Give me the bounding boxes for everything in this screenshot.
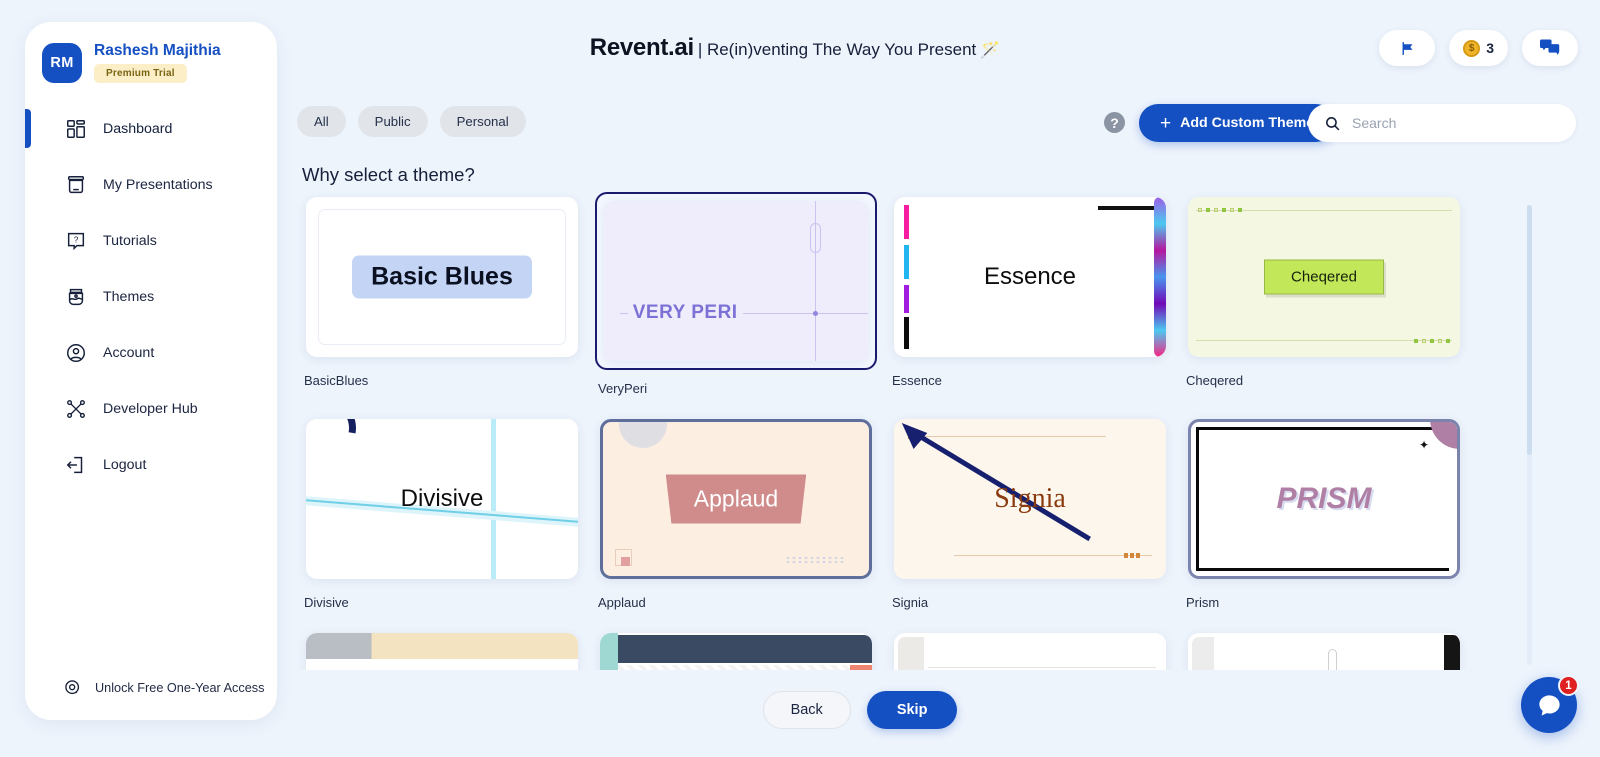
credits-count: 3 bbox=[1486, 40, 1494, 56]
sidebar-item-dashboard[interactable]: Dashboard bbox=[25, 107, 277, 150]
theme-preview-title: PRISM bbox=[1276, 482, 1371, 515]
user-circle-icon bbox=[65, 342, 87, 364]
theme-preview: Cheqered bbox=[1188, 197, 1460, 357]
theme-card-signia[interactable]: Signia Signia bbox=[883, 414, 1177, 612]
plan-badge: Premium Trial bbox=[94, 64, 187, 83]
logout-icon bbox=[65, 454, 87, 476]
add-custom-theme-label: Add Custom Theme bbox=[1180, 115, 1314, 131]
theme-card-partial-4[interactable] bbox=[1177, 628, 1471, 670]
theme-card-label: VeryPeri bbox=[595, 381, 877, 398]
theme-card-partial-1[interactable] bbox=[295, 628, 589, 670]
help-icon[interactable]: ? bbox=[1104, 112, 1125, 133]
wizard-footer: Back Skip bbox=[0, 691, 1600, 729]
section-heading: Why select a theme? bbox=[302, 164, 475, 186]
theme-card-label: Cheqered bbox=[1183, 373, 1465, 390]
theme-card-divisive[interactable]: Divisive Divisive bbox=[295, 414, 589, 612]
sidebar-item-label: Themes bbox=[103, 289, 154, 305]
chat-icon bbox=[1540, 39, 1560, 57]
coin-icon: $ bbox=[1463, 40, 1480, 57]
profile-block[interactable]: RM Rashesh Majithia Premium Trial bbox=[25, 22, 277, 83]
chat-badge: 1 bbox=[1558, 675, 1579, 696]
sidebar-item-developer-hub[interactable]: Developer Hub bbox=[25, 387, 277, 430]
theme-preview: Divisive bbox=[306, 419, 578, 579]
profile-name: Rashesh Majithia bbox=[94, 42, 221, 59]
theme-card-label: Signia bbox=[889, 595, 1171, 612]
credits-button[interactable]: $ 3 bbox=[1449, 30, 1508, 66]
theme-grid-scrollbar[interactable] bbox=[1527, 205, 1532, 665]
dashboard-icon bbox=[65, 118, 87, 140]
magic-wand-icon: 🪄 bbox=[980, 42, 1000, 59]
theme-preview bbox=[600, 633, 872, 670]
theme-filter-chips: All Public Personal bbox=[297, 106, 526, 137]
header-actions: $ 3 bbox=[1379, 30, 1578, 66]
theme-card-prism[interactable]: ✦ PRISM Prism bbox=[1177, 414, 1471, 612]
sidebar: RM Rashesh Majithia Premium Trial Dashbo… bbox=[25, 22, 277, 720]
theme-card-partial-2[interactable] bbox=[589, 628, 883, 670]
filter-chip-public[interactable]: Public bbox=[358, 106, 428, 137]
feedback-button[interactable] bbox=[1522, 30, 1578, 66]
plus-icon: + bbox=[1160, 114, 1171, 133]
search-icon bbox=[1324, 115, 1341, 132]
theme-grid-scroll-area[interactable]: Basic Blues BasicBlues VERY PERI VeryPer… bbox=[295, 192, 1525, 670]
sidebar-item-account[interactable]: Account bbox=[25, 331, 277, 374]
theme-card-veryperi[interactable]: VERY PERI VeryPeri bbox=[589, 192, 883, 398]
theme-card-cheqered[interactable]: Cheqered Cheqered bbox=[1177, 192, 1471, 398]
theme-preview bbox=[1188, 633, 1460, 670]
sidebar-item-label: Developer Hub bbox=[103, 401, 198, 417]
theme-preview-title: Signia bbox=[994, 483, 1066, 514]
back-button[interactable]: Back bbox=[763, 691, 851, 729]
theme-preview: Basic Blues bbox=[306, 197, 578, 357]
sidebar-item-tutorials[interactable]: ? Tutorials bbox=[25, 219, 277, 262]
theme-preview: ✦ PRISM bbox=[1188, 419, 1460, 579]
theme-card-partial-3[interactable] bbox=[883, 628, 1177, 670]
sparkle-icon: ✦ bbox=[1419, 438, 1429, 452]
flag-button[interactable] bbox=[1379, 30, 1435, 66]
chat-bubble-icon bbox=[1536, 692, 1563, 719]
theme-preview-title: Cheqered bbox=[1264, 260, 1384, 295]
sidebar-item-label: Dashboard bbox=[103, 121, 172, 137]
theme-preview: Applaud bbox=[600, 419, 872, 579]
theme-preview-title: Applaud bbox=[666, 475, 806, 524]
sidebar-item-logout[interactable]: Logout bbox=[25, 443, 277, 486]
sidebar-item-label: My Presentations bbox=[103, 177, 213, 193]
theme-card-label: Applaud bbox=[595, 595, 877, 612]
theme-preview: VERY PERI bbox=[604, 201, 868, 361]
theme-card-essence[interactable]: Essence Essence bbox=[883, 192, 1177, 398]
question-icon: ? bbox=[65, 230, 87, 252]
avatar: RM bbox=[42, 43, 82, 83]
brand-tagline: | Re(in)venting The Way You Present bbox=[698, 40, 976, 59]
theme-preview-title: Divisive bbox=[401, 485, 484, 512]
theme-grid: Basic Blues BasicBlues VERY PERI VeryPer… bbox=[295, 192, 1525, 670]
theme-card-label: Divisive bbox=[301, 595, 583, 612]
theme-preview bbox=[894, 633, 1166, 670]
theme-card-basicblues[interactable]: Basic Blues BasicBlues bbox=[295, 192, 589, 398]
search-input[interactable] bbox=[1352, 115, 1552, 131]
theme-card-label: Prism bbox=[1183, 595, 1465, 612]
sidebar-item-label: Logout bbox=[103, 457, 146, 473]
flag-icon bbox=[1399, 40, 1416, 57]
sidebar-item-label: Tutorials bbox=[103, 233, 157, 249]
theme-preview-title: Essence bbox=[984, 263, 1076, 290]
sidebar-nav: Dashboard My Presentations ? Tutorials T… bbox=[25, 107, 277, 486]
theme-preview-title: VERY PERI bbox=[628, 302, 743, 324]
theme-card-applaud[interactable]: Applaud Applaud bbox=[589, 414, 883, 612]
scrollbar-thumb[interactable] bbox=[1527, 205, 1532, 455]
theme-preview: Signia bbox=[894, 419, 1166, 579]
filter-chip-all[interactable]: All bbox=[297, 106, 346, 137]
nodes-icon bbox=[65, 398, 87, 420]
palette-icon bbox=[65, 286, 87, 308]
sidebar-item-my-presentations[interactable]: My Presentations bbox=[25, 163, 277, 206]
theme-preview bbox=[306, 633, 578, 670]
theme-card-label: BasicBlues bbox=[301, 373, 583, 390]
page-title: Revent.ai| Re(in)venting The Way You Pre… bbox=[280, 34, 1310, 62]
brand-name: Revent.ai bbox=[590, 34, 694, 61]
svg-text:?: ? bbox=[74, 235, 79, 244]
presentation-icon bbox=[65, 174, 87, 196]
theme-preview: Essence bbox=[894, 197, 1166, 357]
search-box[interactable] bbox=[1308, 104, 1576, 142]
add-custom-theme-button[interactable]: + Add Custom Theme bbox=[1139, 104, 1335, 142]
skip-button[interactable]: Skip bbox=[867, 691, 958, 729]
theme-preview-title: Basic Blues bbox=[352, 256, 532, 299]
sidebar-item-label: Account bbox=[103, 345, 154, 361]
chat-widget-button[interactable]: 1 bbox=[1521, 677, 1577, 733]
sidebar-item-themes[interactable]: Themes bbox=[25, 275, 277, 318]
theme-card-label: Essence bbox=[889, 373, 1171, 390]
filter-chip-personal[interactable]: Personal bbox=[440, 106, 526, 137]
